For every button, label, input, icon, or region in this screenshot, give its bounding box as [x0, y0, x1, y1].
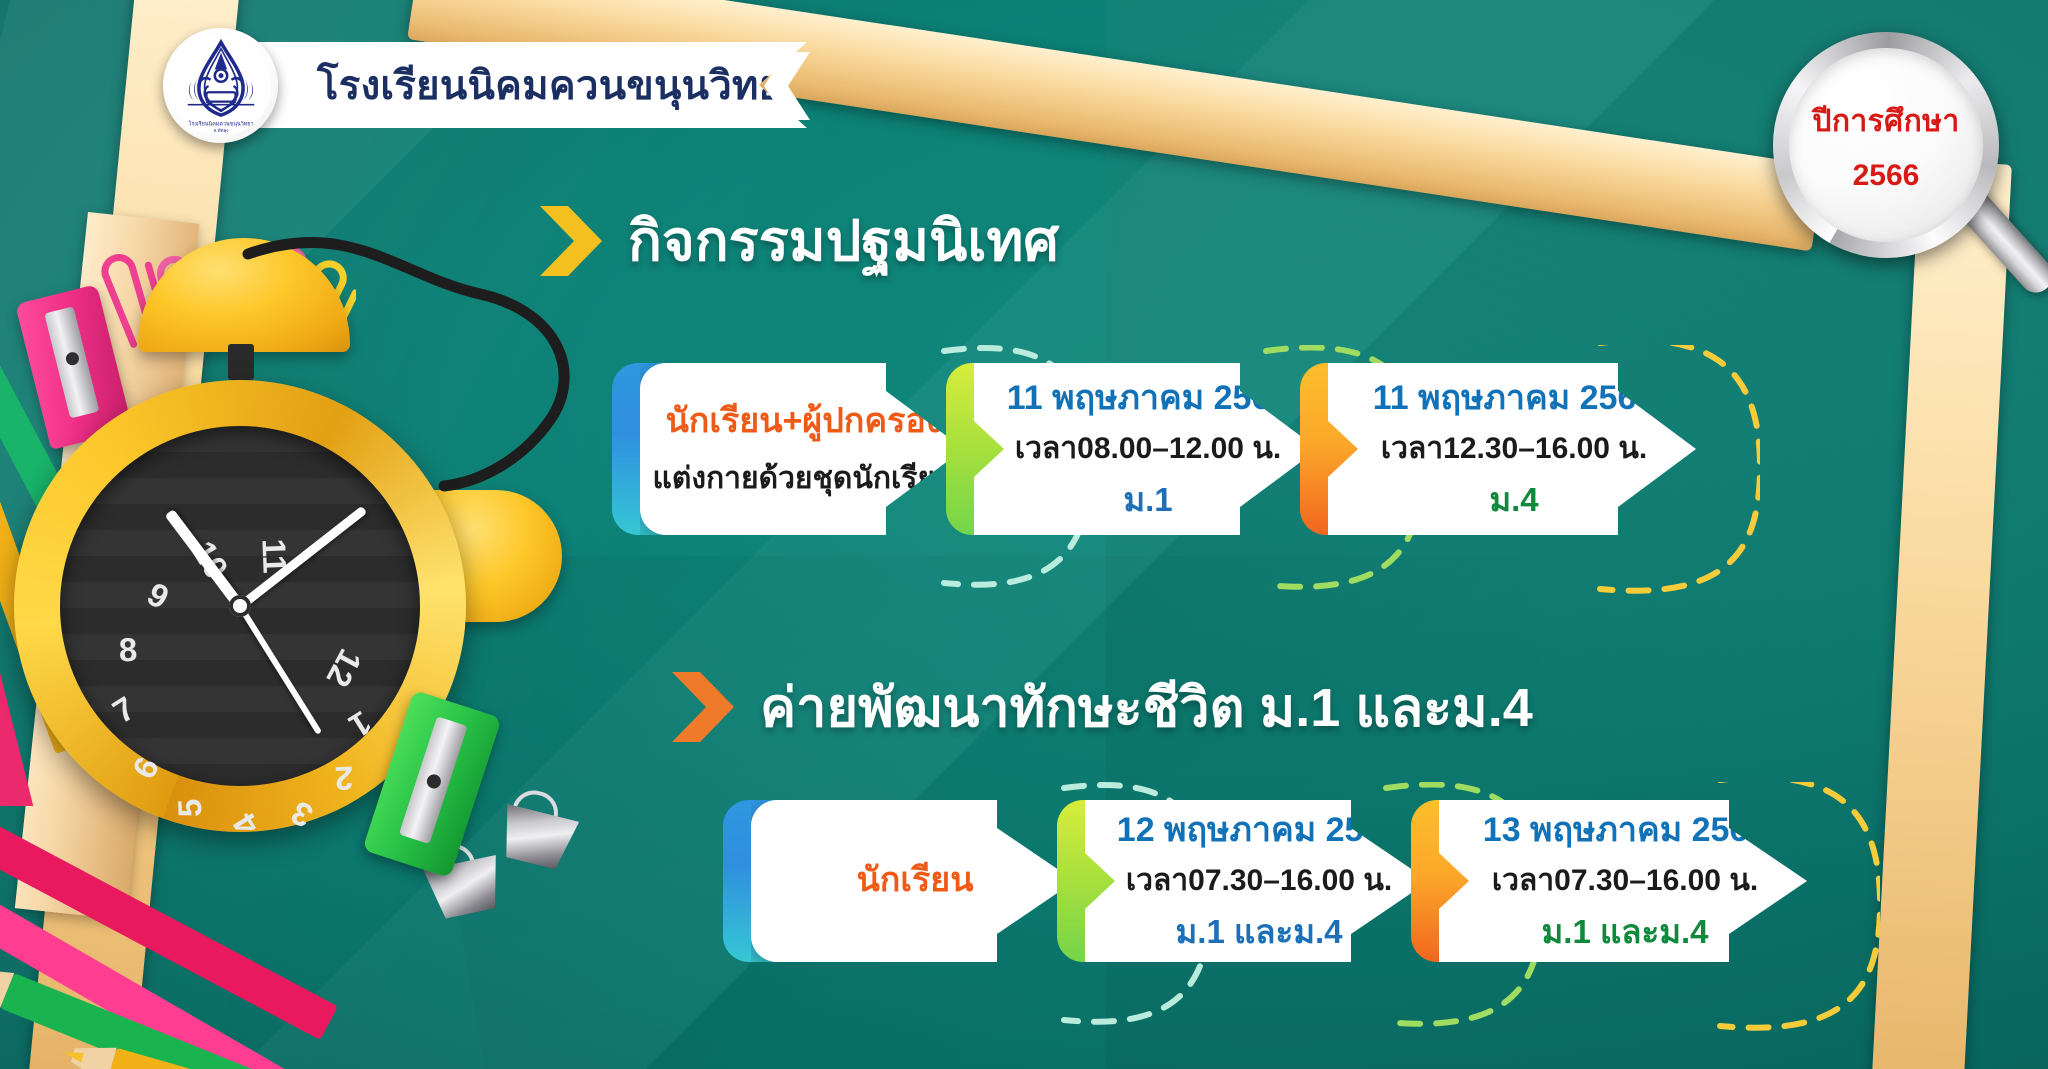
card-body: นักเรียน+ผู้ปกครอง แต่งกายด้วยชุดนักเรีย…: [640, 363, 964, 535]
card-line: ม.1 และม.4: [1176, 911, 1343, 953]
card-line: เวลา07.30–16.00 น.: [1126, 862, 1392, 900]
card-line: ม.4: [1489, 479, 1538, 521]
double-chevron-left-icon: [764, 52, 810, 120]
card-line: นักเรียน: [857, 859, 974, 903]
svg-text:จ.พัทลุง: จ.พัทลุง: [213, 126, 228, 133]
school-name-text: โรงเรียนนิคมควนขนุนวิทยา: [317, 53, 805, 117]
colored-pencils-bottom: [0, 740, 640, 1069]
section-heading-2: ค่ายพัฒนาทักษะชีวิต ม.1 และม.4: [672, 664, 1533, 750]
section-title-1: กิจกรรมปฐมนิเทศ: [628, 196, 1059, 285]
card-body: 13 พฤษภาคม 2566 เวลา07.30–16.00 น. ม.1 แ…: [1439, 800, 1807, 962]
card-body: 11 พฤษภาคม 2566 เวลา08.00–12.00 น. ม.1: [974, 363, 1318, 535]
card-line: ม.1: [1123, 479, 1172, 521]
card-line: นักเรียน+ผู้ปกครอง: [666, 400, 943, 444]
clock-face: 12 1 2 3 4 5 6 7 8 9 10 11: [60, 426, 420, 786]
academic-year-magnifier: ปีการศึกษา 2566: [1773, 32, 1999, 258]
magnifier-glass: ปีการศึกษา 2566: [1789, 48, 1983, 242]
card-line: 11 พฤษภาคม 2566: [1007, 377, 1290, 421]
card-line: 12 พฤษภาคม 2566: [1117, 809, 1401, 853]
card-line: ม.1 และม.4: [1542, 911, 1709, 953]
card-line: เวลา07.30–16.00 น.: [1492, 862, 1758, 900]
card-body: นักเรียน: [751, 800, 1075, 962]
card-line: 13 พฤษภาคม 2566: [1483, 809, 1767, 853]
svg-text:โรงเรียนนิคมควนขนุนวิทยา: โรงเรียนนิคมควนขนุนวิทยา: [188, 120, 253, 127]
card-body: 12 พฤษภาคม 2566 เวลา07.30–16.00 น. ม.1 แ…: [1085, 800, 1429, 962]
card-line: เวลา12.30–16.00 น.: [1381, 430, 1647, 468]
section-heading-1: กิจกรรมปฐมนิเทศ: [540, 196, 1059, 285]
card-line: 11 พฤษภาคม 2566: [1373, 377, 1656, 421]
section-title-2: ค่ายพัฒนาทักษะชีวิต ม.1 และม.4: [760, 664, 1533, 750]
card-body: 11 พฤษภาคม 2566 เวลา12.30–16.00 น. ม.4: [1328, 363, 1696, 535]
school-emblem: โรงเรียนนิคมควนขนุนวิทยา จ.พัทลุง: [163, 28, 278, 143]
card-line: แต่งกายด้วยชุดนักเรียน: [653, 460, 956, 498]
clock-center-pivot: [229, 595, 251, 617]
academic-year-value: 2566: [1853, 159, 1920, 193]
academic-year-label: ปีการศึกษา: [1812, 98, 1959, 145]
school-name-banner: โรงเรียนนิคมควนขนุนวิทยา: [232, 42, 807, 128]
card-line: เวลา08.00–12.00 น.: [1015, 430, 1281, 468]
school-emblem-icon: โรงเรียนนิคมควนขนุนวิทยา จ.พัทลุง: [169, 34, 273, 138]
chevron-right-icon-yellow: [540, 206, 602, 276]
chevron-right-icon-orange: [672, 672, 734, 742]
poster-canvas: 12 1 2 3 4 5 6 7 8 9 10 11: [0, 0, 2048, 1069]
clock-second-hand: [237, 604, 322, 734]
